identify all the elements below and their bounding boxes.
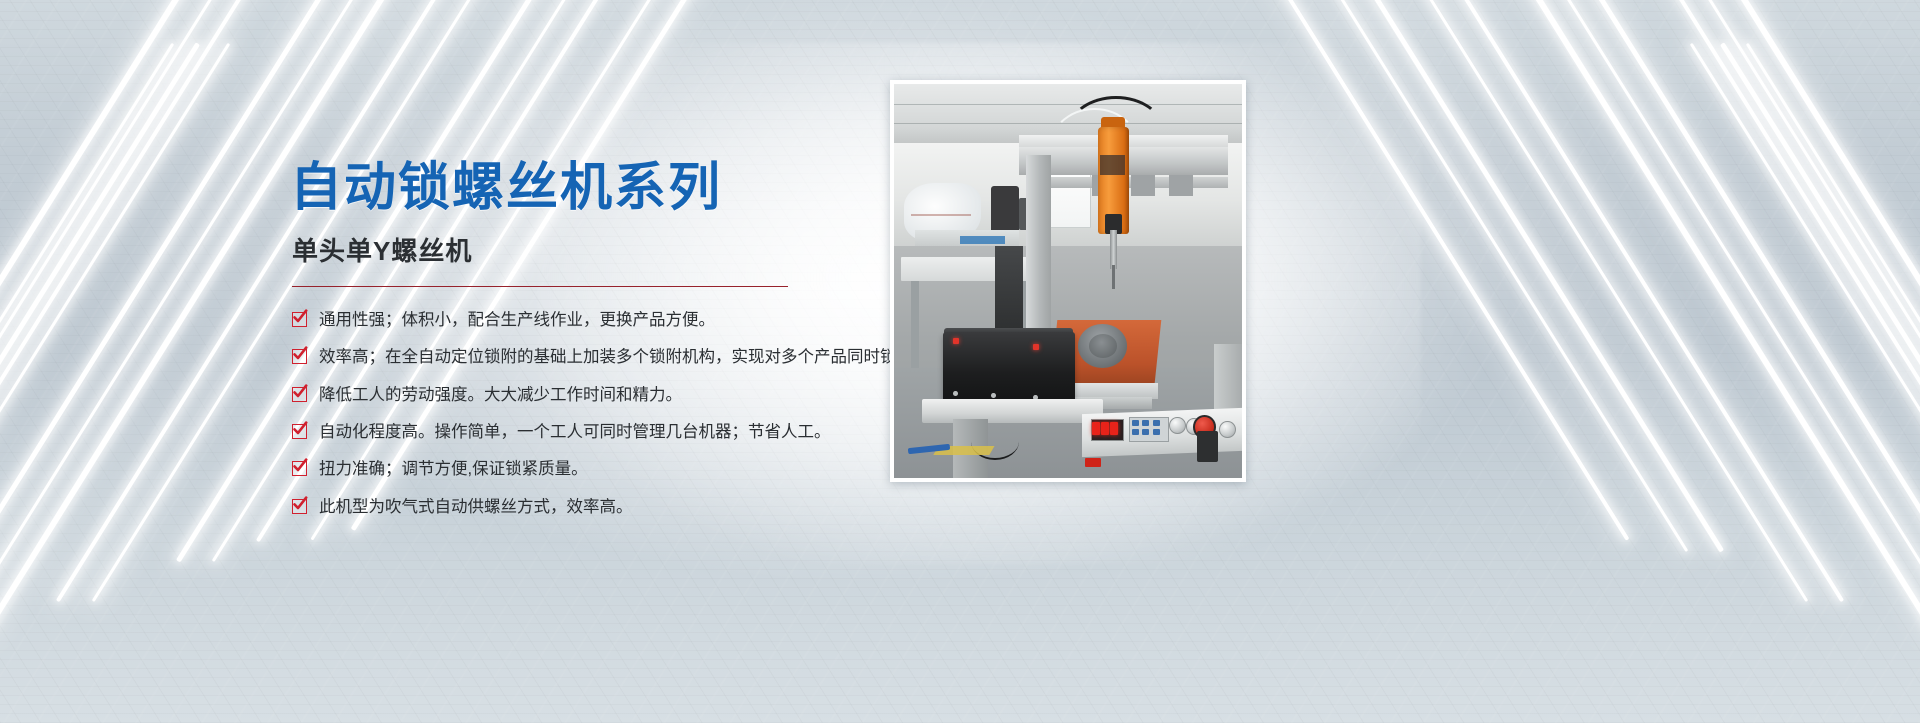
feature-text: 此机型为吹气式自动供螺丝方式，效率高。 — [319, 496, 633, 518]
feature-text: 通用性强；体积小，配合生产线作业，更换产品方便。 — [319, 309, 715, 331]
list-item: 自动化程度高。操作简单，一个工人可同时管理几台机器；节省人工。 — [290, 421, 890, 443]
list-item: 降低工人的劳动强度。大大减少工作时间和精力。 — [290, 384, 890, 406]
feature-text: 自动化程度高。操作简单，一个工人可同时管理几台机器；节省人工。 — [319, 421, 831, 443]
photo-display-digit — [1092, 422, 1100, 435]
photo-screwdriver-bit — [1112, 265, 1115, 289]
photo-keypad-button — [1132, 420, 1139, 426]
photo-control-knob — [1219, 421, 1236, 438]
photo-keypad-button — [1142, 429, 1149, 435]
product-photo — [890, 80, 1246, 482]
page-subtitle: 单头单Y螺丝机 — [292, 231, 890, 268]
product-photo-scene — [894, 84, 1242, 478]
feature-text: 扭力准确；调节方便,保证锁紧质量。 — [319, 458, 588, 480]
feature-list: 通用性强；体积小，配合生产线作业，更换产品方便。 效率高；在全自动定位锁附的基础… — [290, 309, 890, 518]
title-divider — [292, 286, 788, 287]
red-checkbox-icon — [292, 312, 307, 327]
list-item: 扭力准确；调节方便,保证锁紧质量。 — [290, 458, 890, 480]
red-checkbox-icon — [292, 424, 307, 439]
photo-ceiling-line — [894, 104, 1242, 105]
list-item: 此机型为吹气式自动供螺丝方式，效率高。 — [290, 496, 890, 518]
photo-keypad-button — [1153, 420, 1160, 426]
photo-power-switch — [1085, 458, 1101, 467]
photo-base-plate — [922, 399, 1103, 423]
photo-indicator-led — [953, 338, 959, 344]
photo-display-digit — [1101, 422, 1109, 435]
banner-content: 自动锁螺丝机系列 单头单Y螺丝机 通用性强；体积小，配合生产线作业，更换产品方便… — [0, 0, 1920, 723]
photo-dark-upright — [995, 246, 1023, 333]
photo-indicator-led — [1033, 344, 1039, 350]
page-title: 自动锁螺丝机系列 — [290, 160, 890, 217]
photo-screwdriver-label — [1100, 155, 1125, 175]
photo-control-knob — [1169, 417, 1186, 434]
red-checkbox-icon — [292, 461, 307, 476]
list-item: 通用性强；体积小，配合生产线作业，更换产品方便。 — [290, 309, 890, 331]
red-checkbox-icon — [292, 349, 307, 364]
photo-gantry-block — [1131, 175, 1155, 197]
product-banner: 自动锁螺丝机系列 单头单Y螺丝机 通用性强；体积小，配合生产线作业，更换产品方便… — [0, 0, 1920, 723]
photo-panel-screw — [953, 391, 958, 396]
red-checkbox-icon — [292, 387, 307, 402]
photo-background-machine — [991, 186, 1019, 233]
photo-blue-mat — [960, 236, 1005, 244]
list-item: 效率高；在全自动定位锁附的基础上加装多个锁附机构，实现对多个产品同时锁附。 — [290, 346, 890, 368]
feature-text: 效率高；在全自动定位锁附的基础上加装多个锁附机构，实现对多个产品同时锁附。 — [319, 346, 930, 368]
red-checkbox-icon — [292, 499, 307, 514]
photo-screw-feeder — [943, 332, 1075, 407]
photo-display-digit — [1110, 422, 1118, 435]
photo-keypad-button — [1132, 429, 1139, 435]
photo-workpiece-inner — [1089, 334, 1117, 358]
photo-side-bracket — [1197, 431, 1218, 463]
banner-text-block: 自动锁螺丝机系列 单头单Y螺丝机 通用性强；体积小，配合生产线作业，更换产品方便… — [290, 160, 890, 533]
photo-gantry-block — [1169, 175, 1193, 197]
feature-text: 降低工人的劳动强度。大大减少工作时间和精力。 — [319, 384, 682, 406]
photo-keypad-button — [1153, 429, 1160, 435]
photo-keypad-button — [1142, 420, 1149, 426]
photo-gantry-column — [1026, 155, 1050, 352]
photo-workbench-leg — [911, 281, 919, 368]
photo-wrap-line — [911, 214, 970, 216]
photo-panel-screw — [991, 393, 996, 398]
photo-screwdriver-shaft — [1110, 230, 1117, 269]
